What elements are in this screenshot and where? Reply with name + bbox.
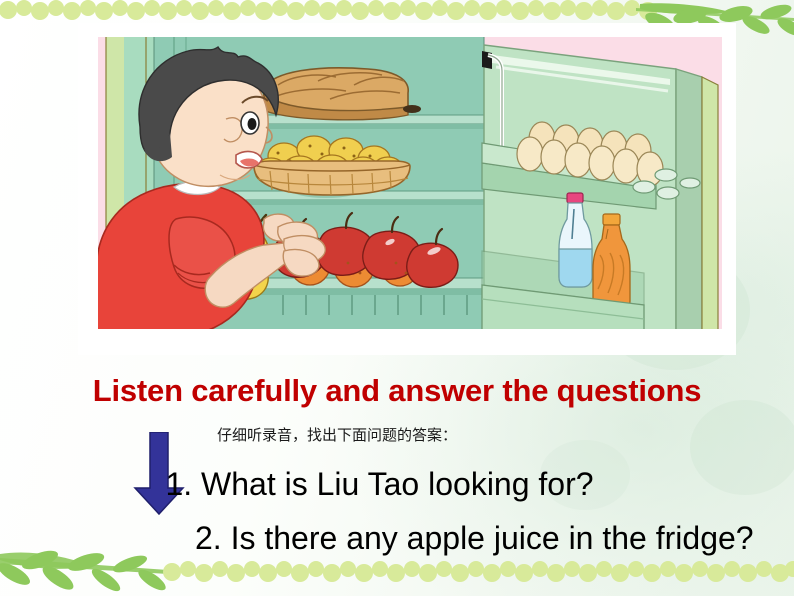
fridge-illustration-svg (78, 23, 736, 355)
bread-loaf-icon (264, 68, 421, 120)
chinese-instruction-text: 仔细听录音，找出下面问题的答案： (0, 424, 794, 445)
page-title: Listen carefully and answer the question… (0, 373, 794, 409)
fridge-door (482, 45, 718, 355)
slide-canvas: Listen carefully and answer the question… (0, 0, 794, 596)
question-item-1: 1. What is Liu Tao looking for? (0, 466, 794, 503)
fridge-illustration (78, 23, 736, 355)
question-item-2: 2. Is there any apple juice in the fridg… (195, 520, 794, 557)
